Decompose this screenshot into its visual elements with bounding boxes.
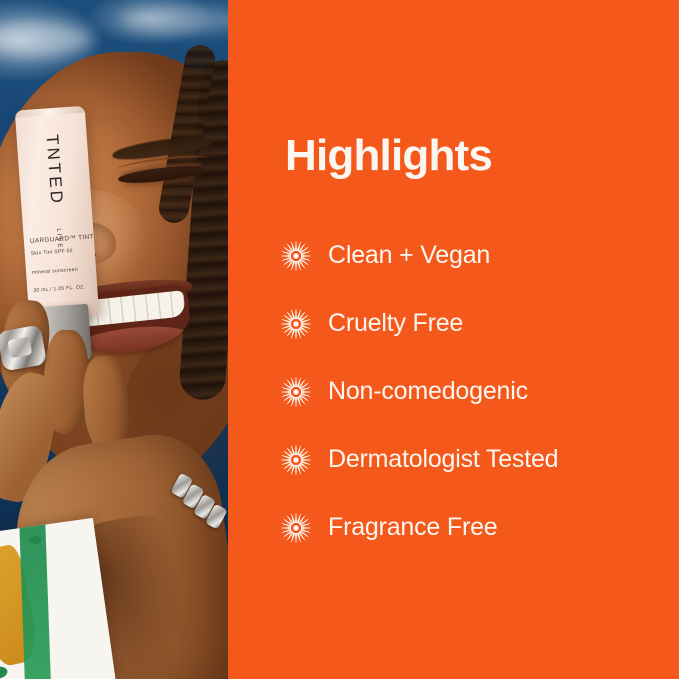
model-photo-panel: TNTED LIVE UARGUARD™ TINT Skin Tint SPF … [0,0,228,679]
list-item: Fragrance Free [280,494,670,562]
sunburst-icon [280,444,312,476]
list-item-label: Cruelty Free [328,310,463,338]
product-highlights-banner: TNTED LIVE UARGUARD™ TINT Skin Tint SPF … [0,0,679,679]
highlights-list: Clean + Vegan Cruelty Free Non-comedogen… [280,222,670,562]
sunburst-icon [280,376,312,408]
product-line-2: Skin Tint SPF 50 [31,248,73,257]
sunburst-icon [280,308,312,340]
list-item: Clean + Vegan [280,222,670,290]
list-item-label: Non-comedogenic [328,378,528,406]
list-item-label: Fragrance Free [328,514,498,542]
product-line-4: 30 mL / 1.05 FL. OZ. [33,284,85,294]
highlights-panel: Highlights Clean + Vegan Cruelty Free No… [228,0,679,679]
list-item-label: Dermatologist Tested [328,446,558,474]
silver-ring [0,324,47,371]
product-brand-label: TNTED [42,134,67,207]
page-title: Highlights [285,134,492,178]
sunburst-icon [280,512,312,544]
list-item-label: Clean + Vegan [328,242,490,270]
list-item: Non-comedogenic [280,358,670,426]
product-tube: TNTED LIVE UARGUARD™ TINT Skin Tint SPF … [15,106,99,320]
sunburst-icon [280,240,312,272]
shirt-pattern-dot [0,665,8,679]
list-item: Cruelty Free [280,290,670,358]
list-item: Dermatologist Tested [280,426,670,494]
product-line-3: mineral sunscreen [32,267,78,276]
